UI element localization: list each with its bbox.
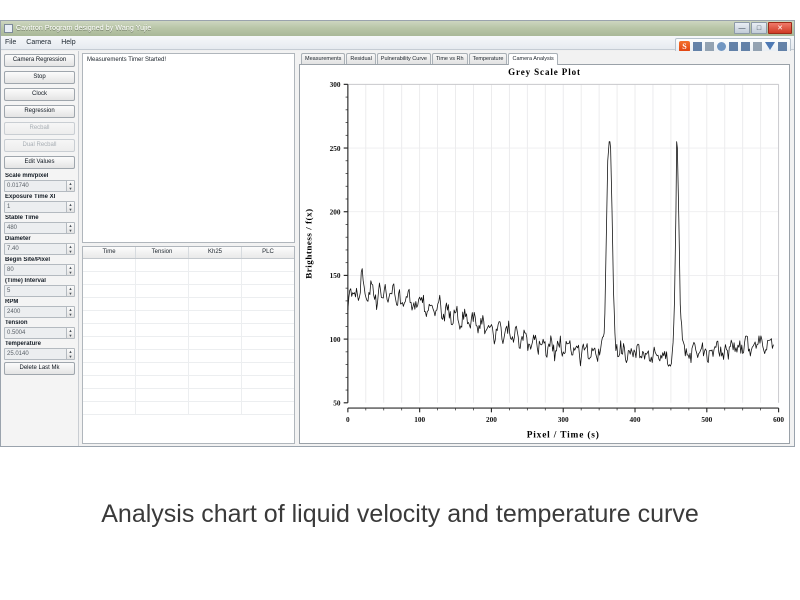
table-header-row: Time Tension Kh25 PLC xyxy=(83,247,294,259)
interval-label: (Time) Interval xyxy=(5,278,75,284)
window-titlebar[interactable]: Cavitron Program designed by Wang Yujie … xyxy=(1,21,794,36)
scale-stepper[interactable]: ▲▼ xyxy=(66,181,74,191)
table-cell xyxy=(83,272,136,284)
table-cell xyxy=(242,272,294,284)
client-area: Camera Regression Stop Clock Regression … xyxy=(1,51,794,446)
interval-stepper[interactable]: ▲▼ xyxy=(66,286,74,296)
menu-item-camera[interactable]: Camera xyxy=(26,39,51,46)
table-cell xyxy=(83,298,136,310)
measurements-table[interactable]: Time Tension Kh25 PLC xyxy=(82,246,295,444)
ime-screenshot-icon[interactable] xyxy=(741,42,750,51)
rpm-stepper[interactable]: ▲▼ xyxy=(66,307,74,317)
stable-time-stepper[interactable]: ▲▼ xyxy=(66,223,74,233)
table-row[interactable] xyxy=(83,402,294,415)
table-body xyxy=(83,259,294,443)
temperature-value: 25.0140 xyxy=(5,349,74,359)
table-cell xyxy=(189,259,242,271)
ime-menu-icon[interactable] xyxy=(778,42,787,51)
table-cell xyxy=(242,324,294,336)
table-row[interactable] xyxy=(83,259,294,272)
close-button[interactable]: ✕ xyxy=(768,22,792,34)
table-row[interactable] xyxy=(83,389,294,402)
interval-value: 5 xyxy=(5,286,74,296)
tab-pulnerability-curve[interactable]: Pulnerability Curve xyxy=(377,53,431,64)
table-cell xyxy=(189,350,242,362)
y-tick-label: 100 xyxy=(330,335,341,344)
table-cell xyxy=(189,298,242,310)
table-row[interactable] xyxy=(83,376,294,389)
x-tick-label: 100 xyxy=(414,415,425,424)
begin-site-input[interactable]: 80 ▲▼ xyxy=(4,264,75,276)
table-cell xyxy=(189,363,242,375)
diameter-value: 7.40 xyxy=(5,244,74,254)
table-cell xyxy=(242,285,294,297)
table-cell xyxy=(242,311,294,323)
x-tick-label: 500 xyxy=(701,415,712,424)
table-cell xyxy=(83,259,136,271)
scale-input[interactable]: 0.01740 ▲▼ xyxy=(4,180,75,192)
y-tick-label: 250 xyxy=(330,144,341,153)
table-row[interactable] xyxy=(83,285,294,298)
table-cell xyxy=(83,350,136,362)
table-cell xyxy=(136,337,189,349)
chart-panel-container: MeasurementsResidualPulnerability CurveT… xyxy=(297,51,794,446)
table-cell xyxy=(189,285,242,297)
table-cell xyxy=(83,311,136,323)
table-row[interactable] xyxy=(83,324,294,337)
table-row[interactable] xyxy=(83,311,294,324)
tension-input[interactable]: 0.5004 ▲▼ xyxy=(4,327,75,339)
control-sidebar: Camera Regression Stop Clock Regression … xyxy=(1,51,79,446)
tab-strip[interactable]: MeasurementsResidualPulnerability CurveT… xyxy=(299,53,790,65)
table-cell xyxy=(136,311,189,323)
x-tick-label: 300 xyxy=(558,415,569,424)
window-controls[interactable]: — □ ✕ xyxy=(734,22,792,34)
chart-panel: Grey Scale Plot 501001502002503000100200… xyxy=(299,65,790,444)
menu-item-help[interactable]: Help xyxy=(61,39,75,46)
maximize-button[interactable]: □ xyxy=(751,22,767,34)
table-cell xyxy=(242,298,294,310)
minimize-button[interactable]: — xyxy=(734,22,750,34)
camera-regression-button[interactable]: Camera Regression xyxy=(4,54,75,67)
ime-pen-icon[interactable] xyxy=(705,42,714,51)
table-cell xyxy=(189,337,242,349)
table-cell xyxy=(189,324,242,336)
y-tick-label: 300 xyxy=(330,80,341,89)
window-title: Cavitron Program designed by Wang Yujie xyxy=(16,25,151,32)
grey-scale-plot-svg: 501001502002503000100200300400500600Pixe… xyxy=(300,78,789,443)
rpm-input[interactable]: 2400 ▲▼ xyxy=(4,306,75,318)
temperature-label: Temperature xyxy=(5,341,75,347)
clock-button[interactable]: Clock xyxy=(4,88,75,101)
temperature-stepper[interactable]: ▲▼ xyxy=(66,349,74,359)
ime-mic-icon[interactable] xyxy=(729,42,738,51)
tab-camera-analysis[interactable]: Camera Analysis xyxy=(508,53,557,65)
table-cell xyxy=(242,259,294,271)
ime-funnel-icon[interactable] xyxy=(765,42,775,50)
log-output[interactable]: Measurements Timer Started! xyxy=(82,53,295,243)
table-cell xyxy=(189,311,242,323)
table-cell xyxy=(136,298,189,310)
ime-emoji-icon[interactable] xyxy=(753,42,762,51)
stop-button[interactable]: Stop xyxy=(4,71,75,84)
stable-time-value: 480 xyxy=(5,223,74,233)
ime-globe-icon[interactable] xyxy=(717,42,726,51)
table-cell xyxy=(189,402,242,414)
log-line: Measurements Timer Started! xyxy=(87,57,290,63)
tab-residual[interactable]: Residual xyxy=(346,53,375,64)
tab-measurements[interactable]: Measurements xyxy=(301,53,345,64)
begin-site-label: Begin Site/Pixel xyxy=(5,257,75,263)
interval-input[interactable]: 5 ▲▼ xyxy=(4,285,75,297)
table-cell xyxy=(83,389,136,401)
table-cell xyxy=(242,363,294,375)
table-cell xyxy=(189,272,242,284)
temperature-input[interactable]: 25.0140 ▲▼ xyxy=(4,348,75,360)
table-cell xyxy=(136,272,189,284)
x-tick-label: 200 xyxy=(486,415,497,424)
table-row[interactable] xyxy=(83,272,294,285)
recball-button: Recball xyxy=(4,122,75,135)
table-cell xyxy=(242,402,294,414)
application-window: Cavitron Program designed by Wang Yujie … xyxy=(0,20,795,447)
table-cell xyxy=(83,285,136,297)
middle-panel: Measurements Timer Started! Time Tension… xyxy=(79,51,297,446)
table-cell xyxy=(189,389,242,401)
scale-value: 0.01740 xyxy=(5,181,74,191)
rpm-value: 2400 xyxy=(5,307,74,317)
y-tick-label: 50 xyxy=(333,398,341,407)
y-tick-label: 150 xyxy=(330,271,341,280)
table-cell xyxy=(83,337,136,349)
table-cell xyxy=(136,259,189,271)
plot-area[interactable]: 501001502002503000100200300400500600Pixe… xyxy=(300,78,789,443)
column-header-tension: Tension xyxy=(136,247,189,258)
edit-values-button[interactable]: Edit Values xyxy=(4,156,75,169)
begin-site-stepper[interactable]: ▲▼ xyxy=(66,265,74,275)
tension-label: Tension xyxy=(5,320,75,326)
table-cell xyxy=(242,350,294,362)
table-cell xyxy=(83,402,136,414)
table-cell xyxy=(136,389,189,401)
menu-item-file[interactable]: File xyxy=(5,39,16,46)
regression-button[interactable]: Regression xyxy=(4,105,75,118)
y-axis-label: Brightness / f(x) xyxy=(304,208,314,278)
table-cell xyxy=(189,376,242,388)
exposure-time-label: Exposure Time XI xyxy=(5,194,75,200)
y-tick-label: 200 xyxy=(330,207,341,216)
table-cell xyxy=(136,285,189,297)
exposure-time-value: 1 xyxy=(5,202,74,212)
diameter-input[interactable]: 7.40 ▲▼ xyxy=(4,243,75,255)
column-header-plc: PLC xyxy=(242,247,294,258)
column-header-kh25: Kh25 xyxy=(189,247,242,258)
table-cell xyxy=(242,337,294,349)
tab-time-vs-rh[interactable]: Time vs Rh xyxy=(432,53,468,64)
dual-recball-button: Dual Recball xyxy=(4,139,75,152)
begin-site-value: 80 xyxy=(5,265,74,275)
x-tick-label: 0 xyxy=(346,415,350,424)
chart-title: Grey Scale Plot xyxy=(300,65,789,78)
slide-caption: Analysis chart of liquid velocity and te… xyxy=(0,500,800,529)
column-header-time: Time xyxy=(83,247,136,258)
stable-time-input[interactable]: 480 ▲▼ xyxy=(4,222,75,234)
rpm-label: RPM xyxy=(5,299,75,305)
table-cell xyxy=(136,402,189,414)
tension-value: 0.5004 xyxy=(5,328,74,338)
ime-keyboard-icon[interactable] xyxy=(693,42,702,51)
table-cell xyxy=(136,363,189,375)
exposure-time-stepper[interactable]: ▲▼ xyxy=(66,202,74,212)
exposure-time-input[interactable]: 1 ▲▼ xyxy=(4,201,75,213)
table-cell xyxy=(242,376,294,388)
x-axis-label: Pixel / Time (s) xyxy=(527,430,600,441)
tension-stepper[interactable]: ▲▼ xyxy=(66,328,74,338)
diameter-label: Diameter xyxy=(5,236,75,242)
table-cell xyxy=(83,363,136,375)
app-icon xyxy=(4,24,13,33)
table-cell xyxy=(83,376,136,388)
table-cell xyxy=(83,324,136,336)
diameter-stepper[interactable]: ▲▼ xyxy=(66,244,74,254)
table-row[interactable] xyxy=(83,363,294,376)
table-row[interactable] xyxy=(83,337,294,350)
table-cell xyxy=(136,350,189,362)
sogou-logo-icon[interactable]: S xyxy=(679,41,690,52)
table-row[interactable] xyxy=(83,350,294,363)
stable-time-label: Stable Time xyxy=(5,215,75,221)
table-cell xyxy=(136,324,189,336)
slide-root: Cavitron Program designed by Wang Yujie … xyxy=(0,0,800,600)
tab-temperature[interactable]: Temperature xyxy=(469,53,508,64)
table-cell xyxy=(136,376,189,388)
table-cell xyxy=(242,389,294,401)
table-row[interactable] xyxy=(83,298,294,311)
x-tick-label: 600 xyxy=(773,415,784,424)
scale-label: Scale mm/pixel xyxy=(5,173,75,179)
delete-last-mk-button[interactable]: Delete Last Mk xyxy=(4,362,75,375)
x-tick-label: 400 xyxy=(630,415,641,424)
